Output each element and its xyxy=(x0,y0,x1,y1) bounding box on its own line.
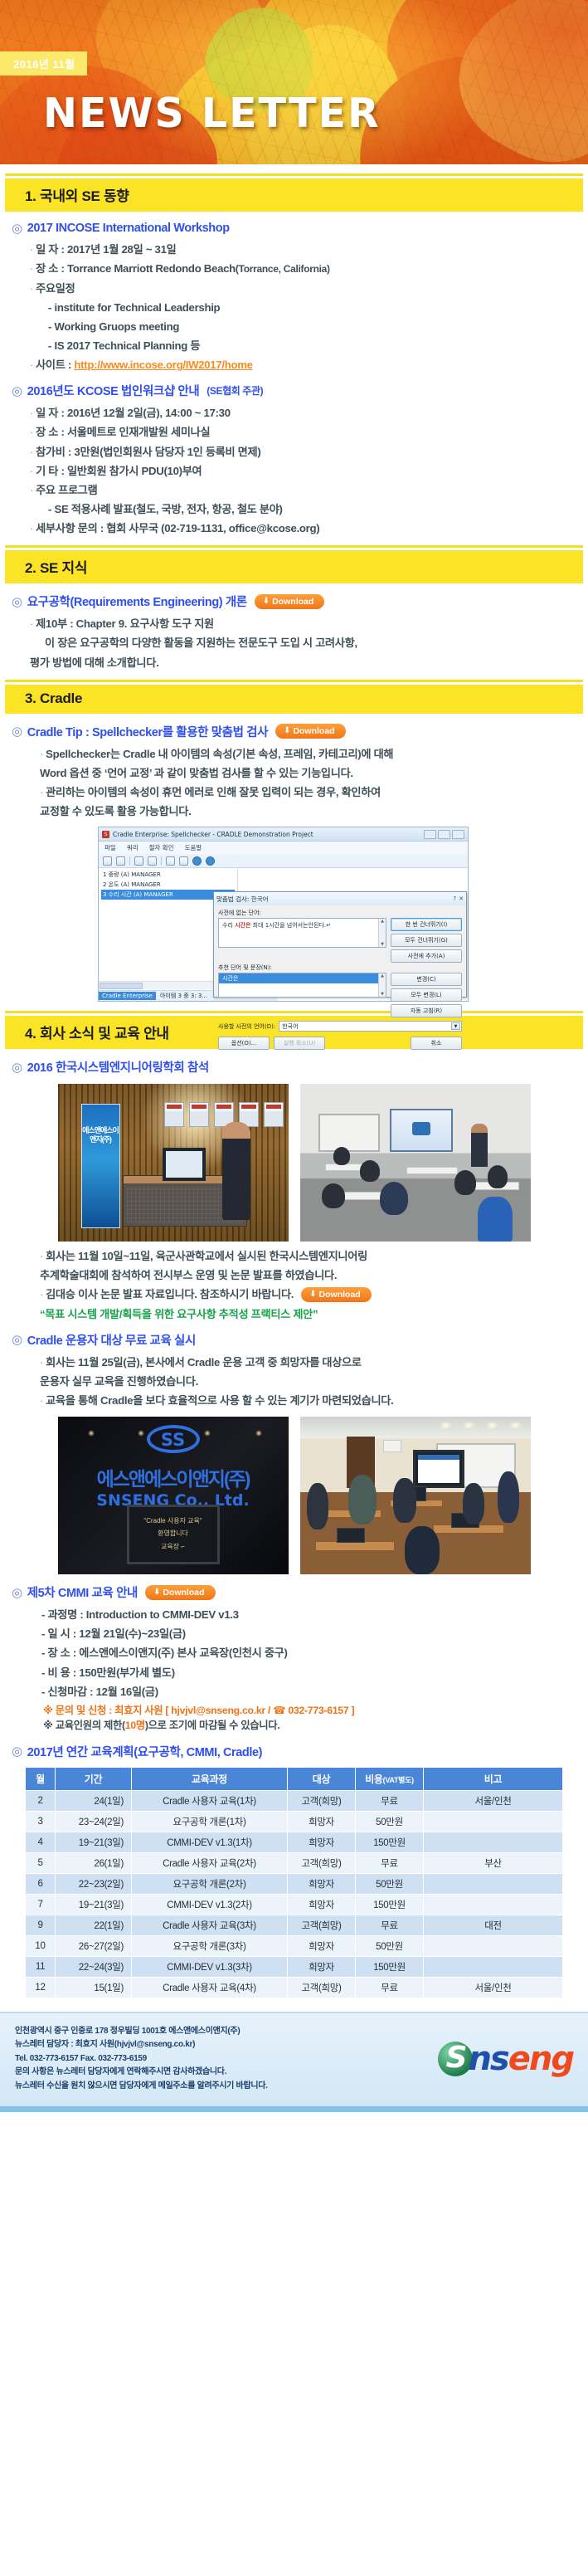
cell-remarks xyxy=(424,1873,563,1894)
cell-period: 24(1일) xyxy=(56,1790,132,1811)
scroll-up-icon: ▲ xyxy=(381,973,384,978)
bullet-ring-icon: ◎ xyxy=(12,1585,22,1600)
footer-phone: Tel. 032-773-6157 Fax. 032-773-6159 xyxy=(15,2052,268,2066)
tool-spellcheck-icon[interactable] xyxy=(179,856,188,866)
table-header-row: 월 기간 교육과정 대상 비용(VAT별도) 비고 xyxy=(26,1767,563,1790)
cell-target: 희망자 xyxy=(288,1894,356,1915)
incose-date: ·일 자 : 2017년 1월 28일 ~ 31일 xyxy=(30,242,583,257)
bullet-ring-icon: ◎ xyxy=(12,221,22,236)
cell-cost: 50만원 xyxy=(356,1873,424,1894)
change-buttons: 변경(C) 모두 변경(L) 자동 고침(R) xyxy=(391,973,462,1017)
cell-target: 희망자 xyxy=(288,1832,356,1852)
incose-schedule-label: ·주요일정 xyxy=(30,281,583,296)
topic-label: 2017 INCOSE International Workshop xyxy=(27,222,230,235)
cmmi-contact-note: ※ 문의 및 신청 : 최효지 사원 [ hjvjvl@snseng.co.kr… xyxy=(43,1703,583,1718)
cell-remarks: 서울/인천 xyxy=(424,1790,563,1811)
cell-period: 19~21(3일) xyxy=(56,1832,132,1852)
bullet-ring-icon: ◎ xyxy=(12,383,22,398)
vertical-scrollbar[interactable]: ▲▼ xyxy=(378,973,386,997)
suggestion-selected[interactable]: 시간은 xyxy=(219,973,386,983)
col-target: 대상 xyxy=(288,1767,356,1790)
board-line-2: 환영합니다 xyxy=(129,1527,217,1539)
cell-month: 9 xyxy=(26,1915,56,1935)
re-desc-1: 이 장은 요구공학의 다양한 활동을 지원하는 전문도구 도입 시 고려사항, xyxy=(30,635,583,651)
kcose-place: ·장 소 : 서울메트로 인재개발원 세미나실 xyxy=(30,424,583,440)
download-arrow-icon: ⬇ xyxy=(309,1290,316,1299)
table-row: 622~23(2일)요구공학 개론(2차)희망자50만원 xyxy=(26,1873,563,1894)
cell-month: 6 xyxy=(26,1873,56,1894)
section-rule xyxy=(5,173,583,176)
download-arrow-icon: ⬇ xyxy=(263,598,270,606)
cell-period: 19~21(3일) xyxy=(56,1894,132,1915)
cell-month: 12 xyxy=(26,1977,56,1998)
bullet-ring-icon: ◎ xyxy=(12,1744,22,1759)
cell-target: 고객(희망) xyxy=(288,1915,356,1935)
topic-cradle-tip: ◎ Cradle Tip : Spellchecker를 활용한 맞춤법 검사 … xyxy=(12,723,583,740)
scroll-up-icon: ▲ xyxy=(381,919,384,924)
cell-remarks xyxy=(424,1956,563,1977)
topic-cmmi-training: ◎ 제5차 CMMI 교육 안내 ⬇ Download xyxy=(12,1583,583,1601)
incose-site-link[interactable]: http://www.incose.org/IW2017/home xyxy=(74,359,252,371)
dictionary-value: 한국어 xyxy=(282,1022,298,1031)
kcose-etc: ·기 타 : 일반회원 참가시 PDU(10)부여 xyxy=(30,463,583,479)
footer-note-1: 문의 사항은 뉴스레터 담당자에게 연락해주시면 감사하겠습니다. xyxy=(15,2066,268,2080)
label-suggestions: 추천 단어 및 문장(N): xyxy=(218,964,462,972)
re-desc-2: 평가 방법에 대해 소개합니다. xyxy=(30,655,583,671)
options-button[interactable]: 옵션(O)... xyxy=(218,1037,270,1050)
skip-buttons: 한 번 건너뛰기(I) 모두 건너뛰기(G) 사전에 추가(A) xyxy=(391,918,462,963)
tool-help-icon[interactable] xyxy=(192,856,202,866)
topic-label: 2016 한국시스템엔지니어링학회 참석 xyxy=(27,1058,209,1076)
board-line-3: 교육장 ⌐ xyxy=(129,1540,217,1553)
cell-target: 고객(희망) xyxy=(288,1977,356,1998)
toolbar-separator xyxy=(161,856,162,866)
booth-banner: 에스앤에스이앤지(주) xyxy=(81,1104,120,1228)
maximize-icon xyxy=(438,830,450,839)
conference-desc-2: 추계학술대회에 참석하여 전시부스 운영 및 논문 발표를 하였습니다. xyxy=(40,1267,583,1283)
signage-korean: 에스앤에스이앤지(주) xyxy=(58,1463,289,1491)
incose-schedule-1: - institute for Technical Leadership xyxy=(48,300,583,315)
bullet-ring-icon: ◎ xyxy=(12,594,22,609)
cmmi-course-name: - 과정명 : Introduction to CMMI-DEV v1.3 xyxy=(41,1607,583,1622)
download-label: Download xyxy=(272,597,313,607)
download-button-cradle-tip[interactable]: ⬇ Download xyxy=(275,724,346,739)
download-label: Download xyxy=(319,1290,361,1300)
incose-schedule-3: - IS 2017 Technical Planning 등 xyxy=(48,338,583,354)
cell-period: 26(1일) xyxy=(56,1852,132,1873)
topic-2017-training-plan: ◎ 2017년 연간 교육계획(요구공학, CMMI, Cradle) xyxy=(12,1743,583,1760)
topic-label: Cradle 운용자 대상 무료 교육 실시 xyxy=(27,1331,196,1349)
cell-month: 4 xyxy=(26,1832,56,1852)
cell-cost: 150만원 xyxy=(356,1832,424,1852)
label-dictionary-language: 사용할 사전의 언어(D): xyxy=(218,1022,275,1031)
section-4-body: ◎ 2016 한국시스템엔지니어링학회 참석 에스앤에스이앤지(주) xyxy=(0,1058,588,1760)
company-logo-icon: SS xyxy=(147,1425,200,1453)
download-label: Download xyxy=(163,1588,204,1598)
kcose-contact: ·세부사항 문의 : 협회 사무국 (02-719-1131, office@k… xyxy=(30,520,583,536)
sentence-text: 수리 시간은 최대 1시간을 넘어서는안된다.↵ xyxy=(219,919,386,932)
spellcheck-dialog: 맞춤법 검사: 한국어 ?✕ 사전에 없는 단어: 수리 시간은 최대 1시간을… xyxy=(213,891,467,998)
section-rule xyxy=(5,680,583,682)
cell-period: 22~24(3일) xyxy=(56,1956,132,1977)
download-label: Download xyxy=(293,726,334,736)
app-toolbar[interactable] xyxy=(99,854,468,868)
vertical-scrollbar[interactable]: ▲▼ xyxy=(378,919,386,947)
table-row: 922(1일)Cradle 사용자 교육(3차)고객(희망)무료대전 xyxy=(26,1915,563,1935)
cell-course: 요구공학 개론(2차) xyxy=(132,1873,288,1894)
dialog-title: 맞춤법 검사: 한국어 xyxy=(216,895,269,904)
page-footer: 인천광역시 중구 인중로 178 정우빌딩 1001호 에스앤에스이앤지(주) … xyxy=(0,2012,588,2107)
cell-course: Cradle 사용자 교육(3차) xyxy=(132,1915,288,1935)
cell-course: 요구공학 개론(3차) xyxy=(132,1935,288,1956)
kcose-fee: ·참가비 : 3만원(법인회원사 담당자 1인 등록비 면제) xyxy=(30,444,583,460)
cell-target: 희망자 xyxy=(288,1956,356,1977)
training-desc-1: ·회사는 11월 25일(금), 본사에서 Cradle 운용 고객 중 희망자… xyxy=(40,1354,583,1370)
cell-remarks xyxy=(424,1935,563,1956)
cell-month: 7 xyxy=(26,1894,56,1915)
topic-cradle-free-training: ◎ Cradle 운용자 대상 무료 교육 실시 xyxy=(12,1331,583,1349)
cell-remarks xyxy=(424,1894,563,1915)
kcose-program-label: ·주요 프로그램 xyxy=(30,482,583,498)
app-workspace: 1 중량 (A) MANAGER 2 온도 (A) MANAGER 3 수리 시… xyxy=(99,868,468,1001)
training-desc-3: ·교육을 통해 Cradle을 보다 효율적으로 사용 할 수 있는 계기가 마… xyxy=(40,1393,583,1408)
section-3-body: ◎ Cradle Tip : Spellchecker를 활용한 맞춤법 검사 … xyxy=(0,723,588,1003)
download-button-cmmi[interactable]: ⬇ Download xyxy=(145,1585,216,1600)
cell-course: CMMI-DEV v1.3(1차) xyxy=(132,1832,288,1852)
undo-button[interactable]: 실행 취소(U) xyxy=(274,1037,325,1050)
change-button[interactable]: 변경(C) xyxy=(391,973,462,986)
cell-remarks xyxy=(424,1832,563,1852)
cell-period: 22~23(2일) xyxy=(56,1873,132,1894)
table-row: 1122~24(3일)CMMI-DEV v1.3(3차)희망자150만원 xyxy=(26,1956,563,1977)
footer-contact-block: 인천광역시 중구 인중로 178 정우빌딩 1001호 에스앤에스이앤지(주) … xyxy=(15,2025,268,2094)
snseng-logo: S ns eng xyxy=(438,2040,573,2078)
photo-company-signage: SS 에스앤에스이앤지(주) SNSENG Co., Ltd. "Cradle … xyxy=(58,1417,289,1574)
suggestion-list[interactable]: 시간은 ▲▼ xyxy=(218,973,386,998)
skip-all-button[interactable]: 모두 건너뛰기(G) xyxy=(391,934,462,947)
dialog-footer: 옵션(O)... 실행 취소(U) 취소 xyxy=(218,1037,462,1050)
menu-file[interactable]: 파일 xyxy=(104,843,116,852)
label-not-in-dictionary: 사전에 없는 단어: xyxy=(218,909,462,917)
cell-cost: 무료 xyxy=(356,1915,424,1935)
topic-label: 요구공학(Requirements Engineering) 개론 xyxy=(27,593,247,610)
cell-course: Cradle 사용자 교육(2차) xyxy=(132,1852,288,1873)
tool-refresh-icon[interactable] xyxy=(148,856,157,866)
minimize-icon xyxy=(424,830,436,839)
footer-bottom-bar xyxy=(0,2106,588,2112)
col-month: 월 xyxy=(26,1767,56,1790)
cradle-app-screenshot: S Cradle Enterprise: Spellchecker - CRAD… xyxy=(98,827,469,1002)
photo-exhibition-booth: 에스앤에스이앤지(주) xyxy=(58,1084,289,1242)
table-row: 719~21(3일)CMMI-DEV v1.3(2차)희망자150만원 xyxy=(26,1894,563,1915)
cell-remarks: 대전 xyxy=(424,1915,563,1935)
app-menubar[interactable]: 파일 쿼리 철자 확인 도움말 xyxy=(99,842,468,854)
bullet-ring-icon: ◎ xyxy=(12,724,22,739)
topic-incose-workshop: ◎ 2017 INCOSE International Workshop xyxy=(12,221,583,236)
cell-period: 23~24(2일) xyxy=(56,1811,132,1832)
cell-cost: 무료 xyxy=(356,1852,424,1873)
cmmi-datetime: - 일 시 : 12월 21일(수)~23일(금) xyxy=(41,1626,583,1642)
cell-remarks: 부산 xyxy=(424,1852,563,1873)
table-row: 323~24(2일)요구공학 개론(1차)희망자50만원 xyxy=(26,1811,563,1832)
cell-cost: 50만원 xyxy=(356,1935,424,1956)
cell-course: CMMI-DEV v1.3(3차) xyxy=(132,1956,288,1977)
scroll-down-icon: ▼ xyxy=(381,992,384,997)
topic-label: 2016년도 KCOSE 법인워크샵 안내 xyxy=(27,382,200,399)
cell-month: 5 xyxy=(26,1852,56,1873)
app-titlebar: S Cradle Enterprise: Spellchecker - CRAD… xyxy=(99,827,468,842)
close-icon[interactable]: ✕ xyxy=(459,895,464,902)
dialog-body: 사전에 없는 단어: 수리 시간은 최대 1시간을 넘어서는안된다.↵ ▲▼ 한… xyxy=(214,905,466,1052)
incose-place: ·장 소 : Torrance Marriott Redondo Beach(T… xyxy=(30,261,583,276)
tool-info-icon[interactable] xyxy=(206,856,215,866)
paper-title: “목표 시스템 개발/획득을 위한 요구사항 추적성 프랙티스 제안” xyxy=(40,1306,583,1322)
dictionary-language-select[interactable]: 한국어▼ xyxy=(279,1021,462,1032)
conference-photos: 에스앤에스이앤지(주) xyxy=(5,1084,583,1242)
not-found-row: 수리 시간은 최대 1시간을 넘어서는안된다.↵ ▲▼ 한 번 건너뛰기(I) … xyxy=(218,918,462,963)
cmmi-deadline: - 신청마감 : 12월 16일(금) xyxy=(41,1684,583,1700)
cell-cost: 150만원 xyxy=(356,1894,424,1915)
topic-kcose-conference: ◎ 2016 한국시스템엔지니어링학회 참석 xyxy=(12,1058,583,1076)
section-header-2: 2. SE 지식 xyxy=(5,550,583,583)
topic-sub: (SE협회 주관) xyxy=(207,383,263,398)
menu-spellcheck[interactable]: 철자 확인 xyxy=(149,843,174,852)
tool-view-icon[interactable] xyxy=(116,856,125,866)
menu-query[interactable]: 쿼리 xyxy=(127,843,138,852)
dialog-titlebar: 맞춤법 검사: 한국어 ?✕ xyxy=(214,892,466,905)
training-desc-2: 운용자 실무 교육을 진행하였습니다. xyxy=(40,1373,583,1389)
download-arrow-icon: ⬇ xyxy=(153,1588,160,1597)
section-header-1: 1. 국내외 SE 동향 xyxy=(5,178,583,212)
topic-label: 2017년 연간 교육계획(요구공학, CMMI, Cradle) xyxy=(27,1743,262,1760)
newsletter-page: 2016년 11월 NEWS LETTER 1. 국내외 SE 동향 ◎ 201… xyxy=(0,0,588,2112)
conference-desc-1: ·회사는 11월 10일~11일, 육군사관학교에서 실시된 한국시스템엔지니어… xyxy=(40,1248,583,1264)
sentence-box[interactable]: 수리 시간은 최대 1시간을 넘어서는안된다.↵ ▲▼ xyxy=(218,918,386,948)
bullet-ring-icon: ◎ xyxy=(12,1332,22,1347)
cell-target: 희망자 xyxy=(288,1811,356,1832)
change-all-button[interactable]: 모두 변경(L) xyxy=(391,988,462,1002)
cell-course: CMMI-DEV v1.3(2차) xyxy=(132,1894,288,1915)
incose-site: ·사이트 : http://www.incose.org/IW2017/home xyxy=(30,357,583,373)
training-plan-table: 월 기간 교육과정 대상 비용(VAT별도) 비고 224(1일)Cradle … xyxy=(25,1767,563,1998)
scroll-down-icon: ▼ xyxy=(381,942,384,947)
cradle-bullet-1-line-1: ·Spellchecker는 Cradle 내 아이템의 속성(기본 속성, 프… xyxy=(40,746,583,762)
list-item[interactable]: 2 온도 (A) MANAGER xyxy=(101,880,235,890)
dialog-controls[interactable]: ?✕ xyxy=(453,895,464,902)
footer-manager: 뉴스레터 담당자 : 최효지 사원(hjvjvl@snseng.co.kr) xyxy=(15,2038,268,2052)
add-to-dictionary-button[interactable]: 사전에 추가(A) xyxy=(391,949,462,963)
cell-period: 22(1일) xyxy=(56,1915,132,1935)
cell-cost: 무료 xyxy=(356,1977,424,1998)
cell-period: 26~27(2일) xyxy=(56,1935,132,1956)
logo-ns-text: ns xyxy=(468,2040,508,2078)
cell-month: 10 xyxy=(26,1935,56,1956)
cell-course: Cradle 사용자 교육(4차) xyxy=(132,1977,288,1998)
cell-target: 희망자 xyxy=(288,1935,356,1956)
cell-period: 15(1일) xyxy=(56,1977,132,1998)
cell-cost: 50만원 xyxy=(356,1811,424,1832)
cradle-bullet-1-line-2: Word 옵션 중 ‘언어 교정’ 과 같이 맞춤법 검사를 할 수 있는 기능… xyxy=(40,765,583,781)
cell-course: 요구공학 개론(1차) xyxy=(132,1811,288,1832)
cancel-button[interactable]: 취소 xyxy=(411,1037,462,1050)
bullet-ring-icon: ◎ xyxy=(12,1060,22,1075)
footer-address: 인천광역시 중구 인중로 178 정우빌딩 1001호 에스앤에스이앤지(주) xyxy=(15,2025,268,2039)
photo-training-classroom xyxy=(300,1417,531,1574)
photo-seminar-room xyxy=(300,1084,531,1242)
app-icon: S xyxy=(102,831,109,838)
section-1-body: ◎ 2017 INCOSE International Workshop ·일 … xyxy=(0,221,588,536)
board-line-1: "Cradle 사용자 교육" xyxy=(129,1515,217,1527)
table-row: 224(1일)Cradle 사용자 교육(1차)고객(희망)무료서울/인천 xyxy=(26,1790,563,1811)
autocorrect-button[interactable]: 자동 고침(R) xyxy=(391,1004,462,1017)
chevron-down-icon: ▼ xyxy=(451,1022,460,1030)
col-cost: 비용(VAT별도) xyxy=(356,1767,424,1790)
col-remarks: 비고 xyxy=(424,1767,563,1790)
logo-eng-text: eng xyxy=(508,2040,573,2078)
toolbar-separator xyxy=(129,856,130,866)
cell-target: 고객(희망) xyxy=(288,1790,356,1811)
month-badge: 2016년 11월 xyxy=(0,51,87,76)
cell-cost: 무료 xyxy=(356,1790,424,1811)
window-controls[interactable] xyxy=(424,830,464,839)
topic-kcose-workshop: ◎ 2016년도 KCOSE 법인워크샵 안내(SE협회 주관) xyxy=(12,382,583,399)
cell-cost: 150만원 xyxy=(356,1956,424,1977)
col-course: 교육과정 xyxy=(132,1767,288,1790)
table-row: 1026~27(2일)요구공학 개론(3차)희망자50만원 xyxy=(26,1935,563,1956)
cell-remarks: 서울/인천 xyxy=(424,1977,563,1998)
section-header-3: 3. Cradle xyxy=(5,685,583,714)
cell-target: 고객(희망) xyxy=(288,1852,356,1873)
hero-banner: 2016년 11월 NEWS LETTER xyxy=(0,0,588,164)
cmmi-place: - 장 소 : 에스앤에스이앤지(주) 본사 교육장(인천시 중구) xyxy=(41,1645,583,1661)
paper-presentation-line: ·김대승 이사 논문 발표 자료입니다. 참조하시기 바랍니다. ⬇ Downl… xyxy=(40,1286,583,1302)
skip-once-button[interactable]: 한 번 건너뛰기(I) xyxy=(391,918,462,931)
tool-cut-icon[interactable] xyxy=(166,856,175,866)
table-row: 526(1일)Cradle 사용자 교육(2차)고객(희망)무료부산 xyxy=(26,1852,563,1873)
welcome-board: "Cradle 사용자 교육" 환영합니다 교육장 ⌐ xyxy=(127,1505,220,1564)
table-body: 224(1일)Cradle 사용자 교육(1차)고객(희망)무료서울/인천323… xyxy=(26,1790,563,1998)
download-arrow-icon: ⬇ xyxy=(284,727,290,735)
hero-shading xyxy=(0,0,588,164)
list-item[interactable]: 1 중량 (A) MANAGER xyxy=(101,870,235,880)
tool-edit-icon[interactable] xyxy=(103,856,112,866)
training-plan-table-wrap: 월 기간 교육과정 대상 비용(VAT별도) 비고 224(1일)Cradle … xyxy=(25,1767,563,1998)
footer-note-2: 뉴스레터 수신을 원치 않으시면 담당자에게 메일주소를 알려주시기 바랍니다. xyxy=(15,2080,268,2094)
status-project: Cradle Enterprise xyxy=(99,992,156,1000)
topic-requirements-engineering: ◎ 요구공학(Requirements Engineering) 개론 ⬇ Do… xyxy=(12,593,583,610)
re-chapter: ·제10부 : Chapter 9. 요구사항 도구 지원 xyxy=(30,616,583,632)
cmmi-cost: - 비 용 : 150만원(부가세 별도) xyxy=(41,1665,583,1681)
app-title-text: Cradle Enterprise: Spellchecker - CRADLE… xyxy=(113,831,313,838)
banner-text: 에스앤에스이앤지(주) xyxy=(82,1126,119,1145)
topic-label: 제5차 CMMI 교육 안내 xyxy=(27,1583,138,1601)
menu-help[interactable]: 도움말 xyxy=(185,843,202,852)
cradle-bullet-2-line-2: 교정할 수 있도록 활용 가능합니다. xyxy=(40,803,583,819)
incose-schedule-2: - Working Gruops meeting xyxy=(48,319,583,334)
training-photos: SS 에스앤에스이앤지(주) SNSENG Co., Ltd. "Cradle … xyxy=(5,1417,583,1574)
section-2-body: ◎ 요구공학(Requirements Engineering) 개론 ⬇ Do… xyxy=(0,593,588,670)
cell-month: 2 xyxy=(26,1790,56,1811)
suggestions-row: 시간은 ▲▼ 변경(C) 모두 변경(L) 자동 고침(R) xyxy=(218,973,462,1017)
status-count: 아이템 3 중 3: 3... xyxy=(160,992,207,1000)
close-icon xyxy=(452,830,464,839)
cell-month: 11 xyxy=(26,1956,56,1977)
cell-month: 3 xyxy=(26,1811,56,1832)
tool-search-icon[interactable] xyxy=(134,856,143,866)
kcose-date: ·일 자 : 2016년 12월 2일(금), 14:00 ~ 17:30 xyxy=(30,405,583,421)
download-button-paper[interactable]: ⬇ Download xyxy=(301,1287,372,1302)
table-row: 1215(1일)Cradle 사용자 교육(4차)고객(희망)무료서울/인천 xyxy=(26,1977,563,1998)
table-row: 419~21(3일)CMMI-DEV v1.3(1차)희망자150만원 xyxy=(26,1832,563,1852)
section-rule xyxy=(5,545,583,548)
page-title: NEWS LETTER xyxy=(43,90,381,137)
topic-label: Cradle Tip : Spellchecker를 활용한 맞춤법 검사 xyxy=(27,723,268,740)
col-period: 기간 xyxy=(56,1767,132,1790)
cmmi-capacity-note: ※ 교육인원의 제한(10명)으로 조기에 마감될 수 있습니다. xyxy=(43,1718,583,1733)
kcose-program-1: - SE 적용사례 발표(철도, 국방, 전자, 항공, 철도 분야) xyxy=(48,501,583,517)
cell-target: 희망자 xyxy=(288,1873,356,1894)
dictionary-language-row: 사용할 사전의 언어(D): 한국어▼ xyxy=(218,1021,462,1032)
cell-remarks xyxy=(424,1811,563,1832)
help-icon[interactable]: ? xyxy=(453,895,456,902)
download-button-re[interactable]: ⬇ Download xyxy=(255,594,325,609)
cell-course: Cradle 사용자 교육(1차) xyxy=(132,1790,288,1811)
cradle-bullet-2-line-1: ·관리하는 아이템의 속성이 휴먼 에러로 인해 잘못 입력이 되는 경우, 확… xyxy=(40,784,583,800)
